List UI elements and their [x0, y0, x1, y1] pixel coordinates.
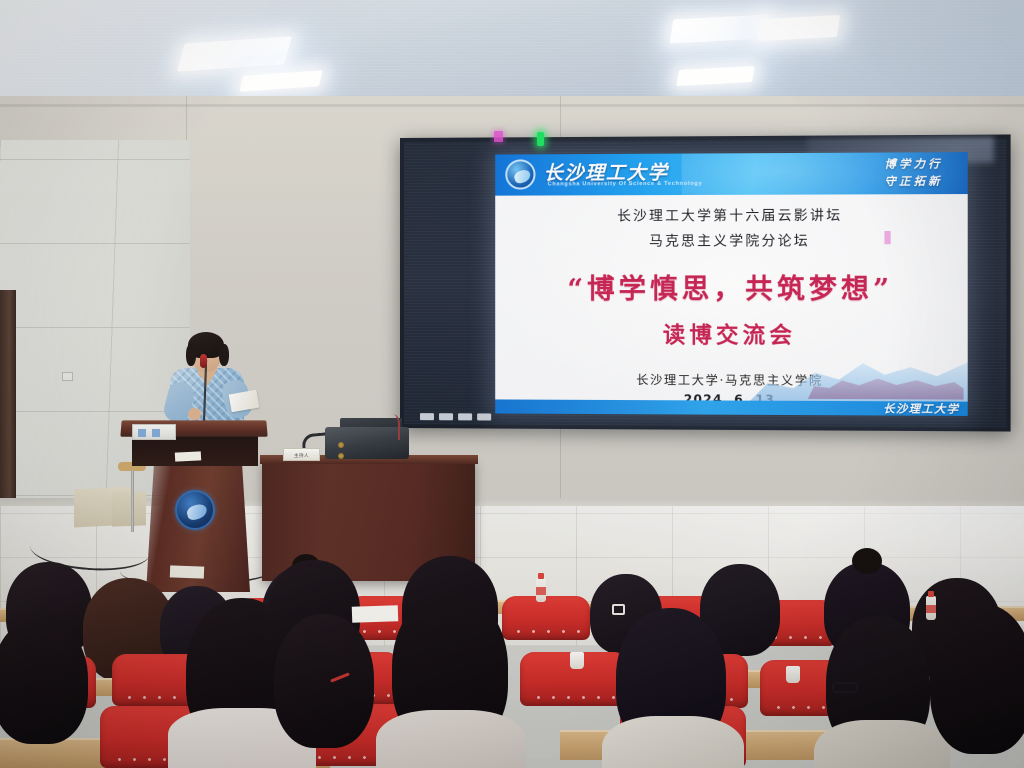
lectern-control-panel[interactable] — [132, 424, 176, 440]
audience-member — [0, 618, 88, 744]
screen-button[interactable] — [477, 413, 491, 420]
slide-header-band: 长沙理工大学 Changsha University Of Science & … — [495, 152, 968, 196]
lectern-paper — [175, 451, 201, 461]
cardboard-box — [112, 491, 146, 526]
motto-line-1: 博学力行 — [884, 155, 942, 173]
wall-switch[interactable] — [62, 372, 73, 381]
equipment-cable — [382, 414, 400, 440]
audience-member — [616, 608, 726, 750]
presenter — [168, 336, 246, 432]
lecture-hall-scene: 长沙理工大学 Changsha University Of Science & … — [0, 0, 1024, 768]
paper-cup — [570, 652, 584, 669]
university-seal-icon — [505, 159, 535, 189]
name-card: 主持人 — [283, 448, 320, 461]
university-emblem-icon — [175, 490, 215, 530]
screen-power-led-icon — [537, 132, 544, 146]
hair-bun — [852, 548, 882, 574]
wall-seam-horizontal — [0, 104, 1024, 107]
paper-cup — [786, 666, 800, 683]
microphone-icon — [200, 354, 207, 368]
eyeglasses-icon — [832, 682, 858, 693]
equipment-knob[interactable] — [338, 442, 344, 448]
slide-body: 长沙理工大学第十六届云影讲坛 马克思主义学院分论坛 “博学慎思，共筑梦想” 读博… — [495, 194, 968, 416]
slide-bottom-bar-text: 长沙理工大学 — [883, 400, 959, 416]
water-bottle — [536, 578, 546, 602]
audience-member — [826, 616, 930, 754]
audience-shoulders — [602, 716, 744, 768]
screen-button[interactable] — [420, 413, 434, 420]
screen-button[interactable] — [458, 413, 472, 420]
slide-university-name-en: Changsha University Of Science & Technol… — [548, 181, 703, 188]
projection-screen[interactable]: 长沙理工大学 Changsha University Of Science & … — [400, 134, 1011, 431]
slide-main-title: “博学慎思，共筑梦想” — [495, 267, 968, 307]
motto-line-2: 守正拓新 — [884, 173, 942, 191]
ceiling-light-panel — [758, 15, 840, 41]
audience-chair[interactable] — [502, 596, 590, 640]
equipment-knob[interactable] — [338, 453, 344, 459]
projector-artifact-marker — [884, 231, 890, 244]
audience-member — [930, 604, 1024, 754]
slide-motto: 博学力行 守正拓新 — [884, 155, 942, 190]
slide-bottom-bar: 长沙理工大学 — [495, 399, 968, 416]
slide-subtitle-line-1: 长沙理工大学第十六届云影讲坛 — [495, 194, 968, 225]
presenter-hair-side — [186, 344, 196, 366]
presenter-hand-left — [188, 408, 201, 420]
screen-pink-indicator — [494, 131, 503, 142]
audience-shoulders — [376, 710, 526, 768]
projected-slide: 长沙理工大学 Changsha University Of Science & … — [495, 152, 968, 416]
presenter-hair-side — [219, 344, 229, 366]
mic-stand-pole — [131, 470, 134, 532]
audience-member — [392, 592, 508, 748]
slide-sub-title: 读博交流会 — [495, 317, 968, 350]
screen-button[interactable] — [439, 413, 453, 420]
screen-control-buttons[interactable] — [420, 413, 491, 420]
slide-subtitle-line-2: 马克思主义学院分论坛 — [495, 224, 968, 250]
audience-area — [0, 556, 1024, 768]
audience-member — [274, 614, 374, 748]
